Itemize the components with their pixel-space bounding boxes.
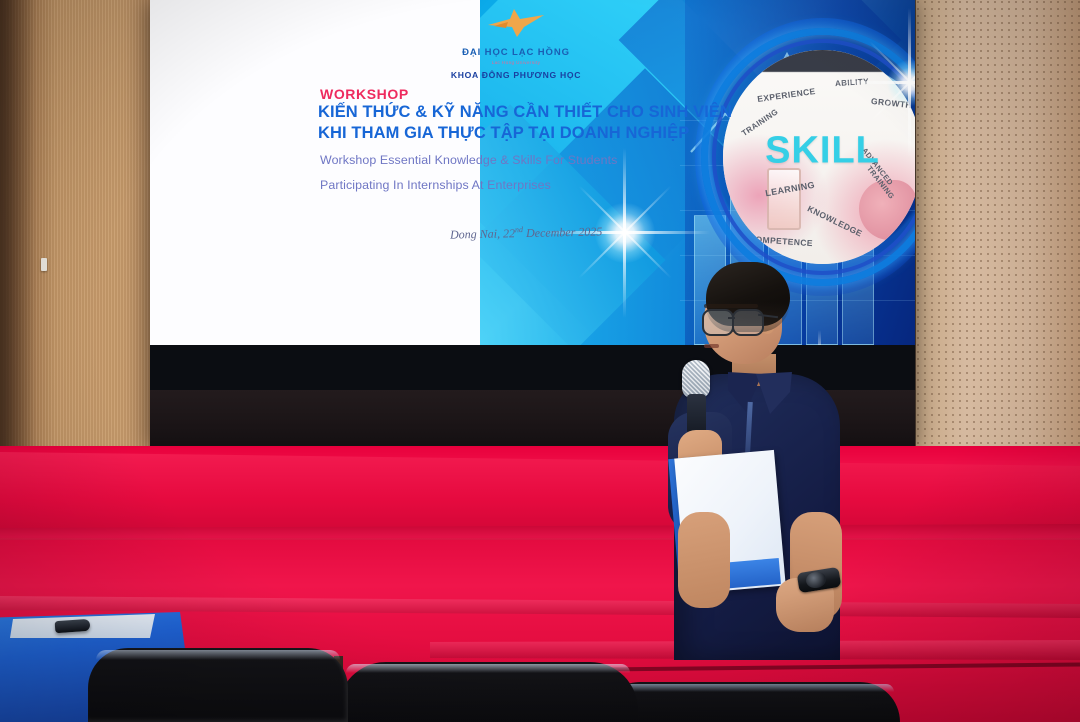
acoustic-panel-wall-right xyxy=(916,0,1080,470)
microphone-icon xyxy=(682,360,710,398)
slide-eyebrow: WORKSHOP xyxy=(320,86,409,102)
speaker-lower-left-arm xyxy=(678,512,730,608)
speaker-mouth xyxy=(704,344,719,348)
slide-date-prefix: Dong Nai, 22 xyxy=(450,226,515,241)
university-logo: ĐẠI HỌC LẠC HỒNG Lac Hong University KHO… xyxy=(426,2,606,76)
chair-highlight xyxy=(346,664,630,673)
logo-university-english: Lac Hong University xyxy=(426,59,606,66)
logo-university-name: ĐẠI HỌC LẠC HỒNG xyxy=(426,47,606,58)
slide-subtitle-line-2: Participating In Internships At Enterpri… xyxy=(320,178,551,192)
slide-title-line-2: KHI THAM GIA THỰC TẬP TẠI DOANH NGHIỆP xyxy=(318,124,689,143)
chair-highlight xyxy=(96,650,340,660)
photo-scene: EXPERIENCEABILITYGROWTHTRAININGADVANCEDT… xyxy=(0,0,1080,722)
slide-date-suffix: December 2025 xyxy=(523,224,603,240)
skill-center-label: SKILL xyxy=(765,129,880,172)
eyeglasses-bridge xyxy=(728,317,735,319)
slide-date: Dong Nai, 22nd December 2025 xyxy=(450,223,603,242)
bird-logo-icon xyxy=(484,6,548,40)
slide-date-ordinal: nd xyxy=(515,225,523,234)
speaker-person xyxy=(640,262,860,722)
wall-shadow xyxy=(0,0,36,452)
speaker-brow xyxy=(704,304,758,308)
remote-control-icon xyxy=(55,619,91,633)
microphone-body xyxy=(687,394,706,434)
slide-title-line-1: KIẾN THỨC & KỸ NĂNG CẦN THIẾT CHO SINH V… xyxy=(318,103,732,122)
hourglass-icon xyxy=(767,168,801,230)
chair-highlight xyxy=(606,684,894,692)
logo-department: KHOA ĐÔNG PHƯƠNG HỌC xyxy=(426,70,606,81)
wall-switch-icon xyxy=(41,258,47,271)
slide-subtitle-line-1: Workshop Essential Knowledge & Skills Fo… xyxy=(320,153,617,167)
eyeglasses-icon xyxy=(702,309,734,336)
skill-word-cloud: EXPERIENCEABILITYGROWTHTRAININGADVANCEDT… xyxy=(723,50,915,264)
